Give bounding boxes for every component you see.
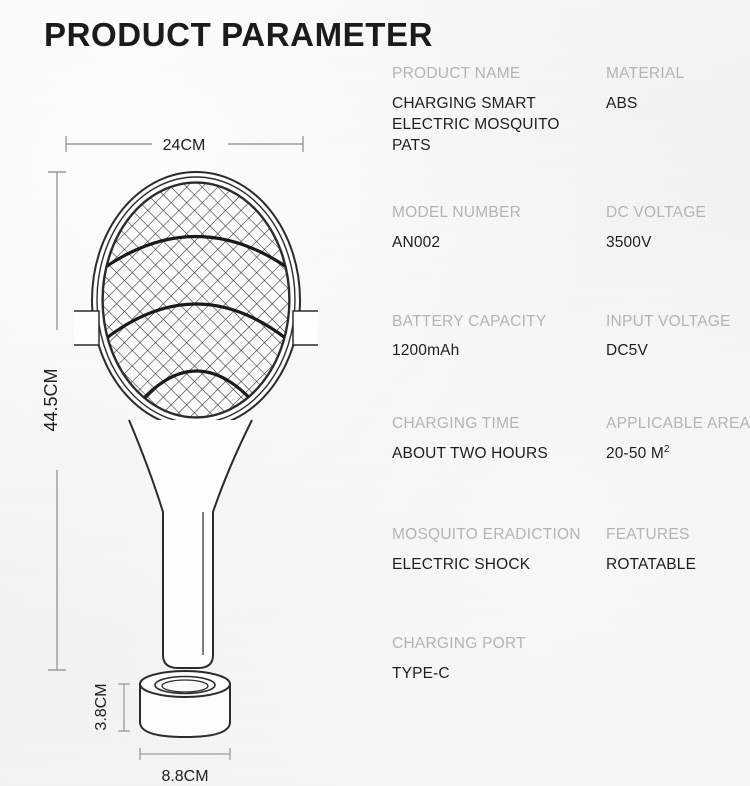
- spec-row-model-number: MODEL NUMBER AN002 DC VOLTAGE 3500V: [392, 203, 750, 254]
- spec-row-product-name: PRODUCT NAME CHARGING SMART ELECTRIC MOS…: [392, 64, 750, 157]
- spec-cell-charging-port: CHARGING PORT TYPE-C: [392, 634, 606, 685]
- spec-value-charging-time: ABOUT TWO HOURS: [392, 444, 600, 465]
- spec-row-gap: [392, 465, 750, 525]
- spec-label-input-voltage: INPUT VOLTAGE: [606, 312, 750, 333]
- dimension-base-width-label: 8.8CM: [161, 768, 208, 785]
- spec-value-features: ROTATABLE: [606, 555, 750, 576]
- spec-value-dc-voltage: 3500V: [606, 233, 750, 254]
- spec-cell-battery-capacity: BATTERY CAPACITY 1200mAh: [392, 312, 606, 363]
- dimension-base-width: [140, 748, 230, 760]
- spec-label-charging-time: CHARGING TIME: [392, 414, 600, 435]
- spec-cell-material: MATERIAL ABS: [606, 64, 750, 157]
- spec-row-gap: [392, 157, 750, 203]
- spec-row-charging-time: CHARGING TIME ABOUT TWO HOURS APPLICABLE…: [392, 414, 750, 465]
- charging-base: [140, 671, 230, 737]
- specification-table: PRODUCT NAME CHARGING SMART ELECTRIC MOS…: [392, 64, 750, 685]
- spec-cell-mosquito-eradiction: MOSQUITO ERADICTION ELECTRIC SHOCK: [392, 525, 606, 576]
- spec-row-gap: [392, 362, 750, 414]
- product-parameter-page: PRODUCT PARAMETER 24CM: [0, 0, 750, 786]
- spec-value-applicable-area-superscript: 2: [664, 444, 670, 455]
- spec-cell-empty: [606, 634, 750, 685]
- spec-cell-charging-time: CHARGING TIME ABOUT TWO HOURS: [392, 414, 606, 465]
- spec-value-charging-port: TYPE-C: [392, 664, 600, 685]
- spec-value-model-number: AN002: [392, 233, 600, 254]
- spec-label-features: FEATURES: [606, 525, 750, 546]
- spec-value-applicable-area-text: 20-50 M: [606, 445, 664, 462]
- spec-value-input-voltage: DC5V: [606, 341, 750, 362]
- spec-label-mosquito-eradiction: MOSQUITO ERADICTION: [392, 525, 600, 546]
- spec-row-gap: [392, 254, 750, 312]
- charging-base-socket-inner: [162, 680, 208, 692]
- product-technical-drawing: 24CM 44.5CM: [0, 0, 380, 786]
- handle: [129, 420, 252, 668]
- spec-label-charging-port: CHARGING PORT: [392, 634, 600, 655]
- spec-row-charging-port: CHARGING PORT TYPE-C: [392, 634, 750, 685]
- spec-cell-applicable-area: APPLICABLE AREA 20-50 M2: [606, 414, 750, 465]
- spec-value-applicable-area: 20-50 M2: [606, 444, 750, 465]
- mesh-grid: [103, 183, 289, 417]
- spec-cell-features: FEATURES ROTATABLE: [606, 525, 750, 576]
- spec-value-battery-capacity: 1200mAh: [392, 341, 600, 362]
- spec-row-mosquito-eradiction: MOSQUITO ERADICTION ELECTRIC SHOCK FEATU…: [392, 525, 750, 576]
- spec-row-gap: [392, 576, 750, 634]
- spec-value-material: ABS: [606, 94, 750, 115]
- dimension-height-label: 44.5CM: [41, 368, 61, 431]
- spec-cell-dc-voltage: DC VOLTAGE 3500V: [606, 203, 750, 254]
- spec-label-material: MATERIAL: [606, 64, 750, 85]
- spec-value-mosquito-eradiction: ELECTRIC SHOCK: [392, 555, 600, 576]
- spec-label-dc-voltage: DC VOLTAGE: [606, 203, 750, 224]
- hinge-notch: [74, 311, 99, 345]
- spec-cell-model-number: MODEL NUMBER AN002: [392, 203, 606, 254]
- spec-row-battery-capacity: BATTERY CAPACITY 1200mAh INPUT VOLTAGE D…: [392, 312, 750, 363]
- spec-label-product-name: PRODUCT NAME: [392, 64, 600, 85]
- dimension-width-label: 24CM: [163, 137, 206, 154]
- spec-label-applicable-area: APPLICABLE AREA: [606, 414, 750, 435]
- spec-cell-product-name: PRODUCT NAME CHARGING SMART ELECTRIC MOS…: [392, 64, 606, 157]
- dimension-base-height-label: 3.8CM: [93, 683, 110, 730]
- spec-cell-input-voltage: INPUT VOLTAGE DC5V: [606, 312, 750, 363]
- dimension-base-height: [118, 684, 130, 731]
- spec-label-model-number: MODEL NUMBER: [392, 203, 600, 224]
- spec-value-product-name: CHARGING SMART ELECTRIC MOSQUITO PATS: [392, 94, 600, 157]
- spec-label-battery-capacity: BATTERY CAPACITY: [392, 312, 600, 333]
- hinge-notch-right: [293, 311, 318, 345]
